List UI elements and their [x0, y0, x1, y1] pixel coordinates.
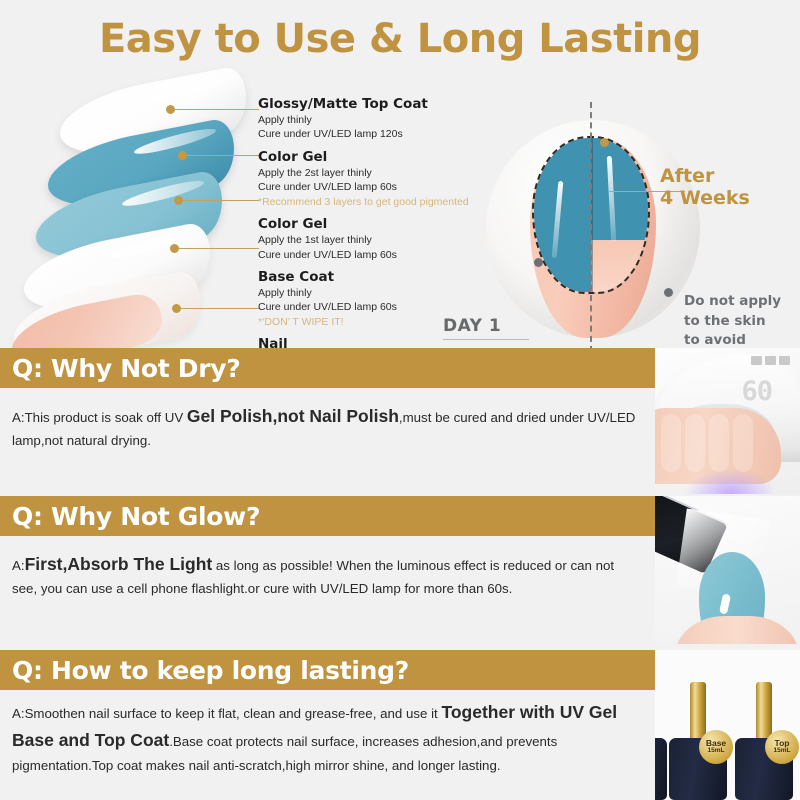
leader-line-nail [181, 308, 259, 309]
answer-pre: A:This product is soak off UV [12, 410, 187, 425]
answer-emphasis: First,Absorb The Light [25, 554, 213, 574]
bottle-badge-base: Base 15mL [699, 730, 733, 764]
infographic-page: Easy to Use & Long Lasting Glossy/Matte … [0, 0, 800, 800]
badge-volume: 15mL [708, 748, 725, 755]
layer-instruction-2: Cure under UV/LED lamp 60s [258, 300, 470, 314]
page-title: Easy to Use & Long Lasting [0, 16, 800, 62]
skin-warning-line-2: to the skin [684, 312, 800, 332]
layer-instruction-2: Cure under UV/LED lamp 60s [258, 248, 470, 262]
application-steps-section: Glossy/Matte Top Coat Apply thinly Cure … [0, 78, 800, 348]
layer-callout-top-coat: Glossy/Matte Top Coat Apply thinly Cure … [258, 96, 470, 142]
leader-dot-base-coat [170, 244, 179, 253]
leader-dot-after-4-weeks [600, 138, 609, 147]
lamp-button[interactable] [779, 356, 790, 365]
layer-instruction-2: Cure under UV/LED lamp 120s [258, 127, 470, 141]
badge-volume: 15mL [774, 748, 791, 755]
finger [709, 414, 729, 472]
bottle-badge-top: Top 15mL [765, 730, 799, 764]
lamp-button[interactable] [751, 356, 762, 365]
leader-dot-nail [172, 304, 181, 313]
faq-block-why-not-glow: Q: Why Not Glow? A:First,Absorb The Ligh… [0, 496, 800, 600]
layer-name: Glossy/Matte Top Coat [258, 96, 470, 113]
nail-highlight [719, 593, 731, 614]
faq-question-text: Q: Why Not Glow? [0, 502, 260, 531]
exploded-nail-layer-illustration [12, 78, 272, 340]
answer-emphasis: Gel Polish,not Nail Polish [187, 406, 399, 426]
polish-bottle-base[interactable]: Likomey Gel Nail Polish 0.5 fl.oz / 15mL… [669, 682, 727, 800]
faq-block-why-not-dry: Q: Why Not Dry? A:This product is soak o… [0, 348, 800, 452]
layer-name: Base Coat [258, 269, 470, 286]
layer-instruction-1: Apply the 2st layer thinly [258, 166, 470, 180]
leader-line-base-coat [179, 248, 259, 249]
layer-instruction-2: Cure under UV/LED lamp 60s [258, 180, 470, 194]
phone-flashlight-nail-photo [655, 496, 800, 644]
after-4-weeks-label: After 4 Weeks [660, 166, 790, 210]
nail-wear-comparison-illustration [478, 108, 708, 353]
answer-pre: A: [12, 558, 25, 573]
polish-bottle-top[interactable]: Likomey Gel Nail Polish 0.5 fl.oz / 15mL… [735, 682, 793, 800]
leader-line-top-coat [175, 109, 259, 110]
leader-line-color-gel-2 [187, 155, 259, 156]
after-4-weeks-line-1: After [660, 166, 790, 188]
polish-bottle-partial [655, 682, 667, 800]
leader-dot-color-gel-2 [178, 151, 187, 160]
fingers-shape [675, 616, 799, 644]
finger [661, 414, 681, 472]
bottles-illustration: Likomey Gel Nail Polish 0.5 fl.oz / 15mL… [655, 650, 800, 800]
layer-instruction-1: Apply thinly [258, 113, 470, 127]
layer-name: Color Gel [258, 149, 470, 166]
faq-answer-text: A:Smoothen nail surface to keep it flat,… [0, 690, 652, 776]
faq-block-how-to-keep-long-lasting: Q: How to keep long lasting? A:Smoothen … [0, 650, 800, 776]
layer-name: Color Gel [258, 216, 470, 233]
layer-callout-color-gel-1: Color Gel Apply the 1st layer thinly Cur… [258, 216, 470, 262]
layer-note: *Recommend 3 layers to get good pigmente… [258, 195, 470, 209]
lamp-timer-display: 60 [741, 376, 772, 407]
uv-glow [685, 468, 777, 494]
uv-lamp-illustration: 60 [655, 348, 800, 494]
gloss-highlight [145, 73, 227, 106]
vertical-divider-dashed [590, 102, 592, 352]
layer-note: *‘DON’ T WIPE IT! [258, 315, 470, 329]
uv-lamp-photo: 60 [655, 348, 800, 494]
faq-answer-text: A:First,Absorb The Light as long as poss… [0, 536, 652, 600]
flashlight-illustration [655, 496, 800, 644]
leader-line-color-gel-1 [183, 200, 259, 201]
skin-warning-line-1: Do not apply [684, 292, 800, 312]
faq-question-text: Q: Why Not Dry? [0, 354, 240, 383]
faq-question-text: Q: How to keep long lasting? [0, 656, 409, 685]
layer-callout-base-coat: Base Coat Apply thinly Cure under UV/LED… [258, 269, 470, 329]
after-4-weeks-line-2: 4 Weeks [660, 188, 790, 210]
day-1-underline [443, 339, 529, 340]
layer-callout-list: Glossy/Matte Top Coat Apply thinly Cure … [258, 96, 470, 375]
answer-pre: A:Smoothen nail surface to keep it flat,… [12, 706, 441, 721]
day-1-label: DAY 1 [443, 316, 501, 336]
finger [733, 414, 753, 472]
layer-callout-color-gel-2: Color Gel Apply the 2st layer thinly Cur… [258, 149, 470, 209]
leader-dot-top-coat [166, 105, 175, 114]
layer-instruction-1: Apply the 1st layer thinly [258, 233, 470, 247]
leader-dot-skin-warning [664, 288, 673, 297]
bottle-body [655, 738, 667, 800]
layer-instruction-1: Apply thinly [258, 286, 470, 300]
polish-bottles-photo: Likomey Gel Nail Polish 0.5 fl.oz / 15mL… [655, 650, 800, 800]
finger [685, 414, 705, 472]
leader-dot-day1 [534, 258, 543, 267]
leader-dot-color-gel-1 [174, 196, 183, 205]
lamp-buttons[interactable] [751, 356, 790, 365]
lamp-button[interactable] [765, 356, 776, 365]
faq-answer-text: A:This product is soak off UV Gel Polish… [0, 388, 652, 452]
